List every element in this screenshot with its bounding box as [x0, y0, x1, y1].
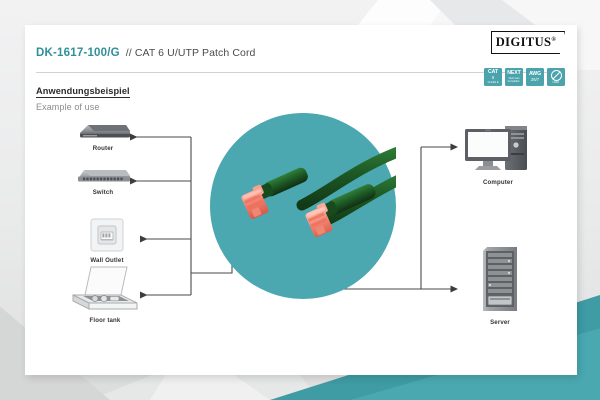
- switch-label: Switch: [93, 189, 114, 196]
- floor-tank-icon: [67, 265, 143, 313]
- rj45-patch-cord-graphic: [210, 113, 396, 299]
- application-diagram: Router: [25, 25, 577, 375]
- device-floor-tank[interactable]: Floor tank: [65, 265, 145, 324]
- server-icon: [478, 243, 522, 315]
- floor-tank-label: Floor tank: [90, 317, 121, 324]
- device-router[interactable]: Router: [71, 121, 135, 152]
- screenshot-canvas: DK-1617-100/G // CAT 6 U/UTP Patch Cord …: [0, 0, 600, 400]
- computer-icon: [461, 123, 535, 175]
- router-label: Router: [93, 145, 114, 152]
- device-switch[interactable]: Switch: [71, 165, 135, 196]
- wall-outlet-label: Wall Outlet: [90, 257, 123, 264]
- device-wall-outlet[interactable]: Wall Outlet: [81, 217, 133, 264]
- device-computer[interactable]: Computer: [461, 123, 535, 186]
- wall-outlet-icon: [89, 217, 125, 253]
- device-server[interactable]: Server: [469, 243, 531, 326]
- server-label: Server: [490, 319, 510, 326]
- router-icon: [74, 121, 132, 141]
- content-card: DK-1617-100/G // CAT 6 U/UTP Patch Cord …: [25, 25, 577, 375]
- computer-label: Computer: [483, 179, 513, 186]
- switch-icon: [74, 165, 132, 185]
- product-spotlight-circle: [210, 113, 396, 299]
